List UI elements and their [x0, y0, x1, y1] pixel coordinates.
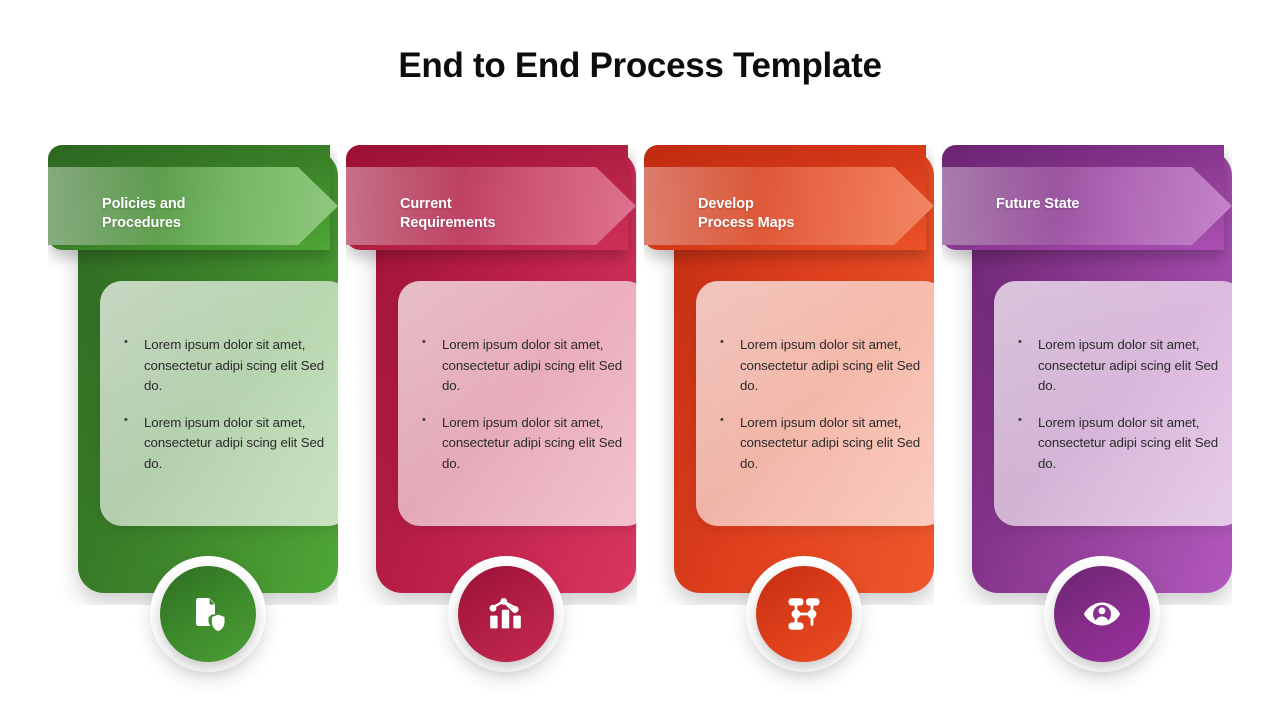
card-3-label: Develop Process Maps — [698, 195, 794, 233]
list-item: Lorem ipsum dolor sit amet, consectetur … — [122, 413, 328, 475]
eye-person-vision-icon — [1082, 594, 1122, 634]
card-1-banner-arrow — [48, 167, 338, 245]
card-4-label: Future State — [996, 195, 1079, 214]
card-4-clip: Future State Lorem ipsum dolor sit amet,… — [942, 145, 1232, 605]
card-3-clip: Develop Process Maps Lorem ipsum dolor s… — [644, 145, 934, 605]
slide-canvas: End to End Process Template Policies and… — [0, 0, 1280, 720]
page-title: End to End Process Template — [0, 46, 1280, 86]
card-1-banner: Policies and Procedures — [48, 145, 330, 250]
card-3-banner: Develop Process Maps — [644, 145, 926, 250]
card-4-icon-badge[interactable] — [1054, 566, 1150, 662]
card-3-icon-badge[interactable] — [756, 566, 852, 662]
process-map-nodes-icon — [784, 594, 824, 634]
card-4-bullet-list: Lorem ipsum dolor sit amet, consectetur … — [1016, 335, 1222, 475]
card-3-bullet-list: Lorem ipsum dolor sit amet, consectetur … — [718, 335, 924, 475]
document-shield-icon — [188, 594, 228, 634]
card-2-bullet-list: Lorem ipsum dolor sit amet, consectetur … — [420, 335, 626, 475]
card-3-panel: Lorem ipsum dolor sit amet, consectetur … — [696, 281, 934, 526]
list-item: Lorem ipsum dolor sit amet, consectetur … — [718, 413, 924, 475]
list-item: Lorem ipsum dolor sit amet, consectetur … — [1016, 335, 1222, 397]
card-4-banner-arrow — [942, 167, 1232, 245]
card-2-icon-badge[interactable] — [458, 566, 554, 662]
card-1-clip: Policies and Procedures Lorem ipsum dolo… — [48, 145, 338, 605]
card-1-bullet-list: Lorem ipsum dolor sit amet, consectetur … — [122, 335, 328, 475]
card-4-panel: Lorem ipsum dolor sit amet, consectetur … — [994, 281, 1232, 526]
card-2-banner: Current Requirements — [346, 145, 628, 250]
card-2-panel: Lorem ipsum dolor sit amet, consectetur … — [398, 281, 637, 526]
card-1-icon-badge[interactable] — [160, 566, 256, 662]
card-2-label: Current Requirements — [400, 195, 496, 233]
card-1-panel: Lorem ipsum dolor sit amet, consectetur … — [100, 281, 338, 526]
card-2-clip: Current Requirements Lorem ipsum dolor s… — [346, 145, 637, 605]
bar-chart-analytics-icon — [486, 594, 526, 634]
card-1-label: Policies and Procedures — [102, 195, 185, 233]
list-item: Lorem ipsum dolor sit amet, consectetur … — [420, 413, 626, 475]
list-item: Lorem ipsum dolor sit amet, consectetur … — [420, 335, 626, 397]
list-item: Lorem ipsum dolor sit amet, consectetur … — [718, 335, 924, 397]
list-item: Lorem ipsum dolor sit amet, consectetur … — [1016, 413, 1222, 475]
card-4-banner: Future State — [942, 145, 1224, 250]
list-item: Lorem ipsum dolor sit amet, consectetur … — [122, 335, 328, 397]
